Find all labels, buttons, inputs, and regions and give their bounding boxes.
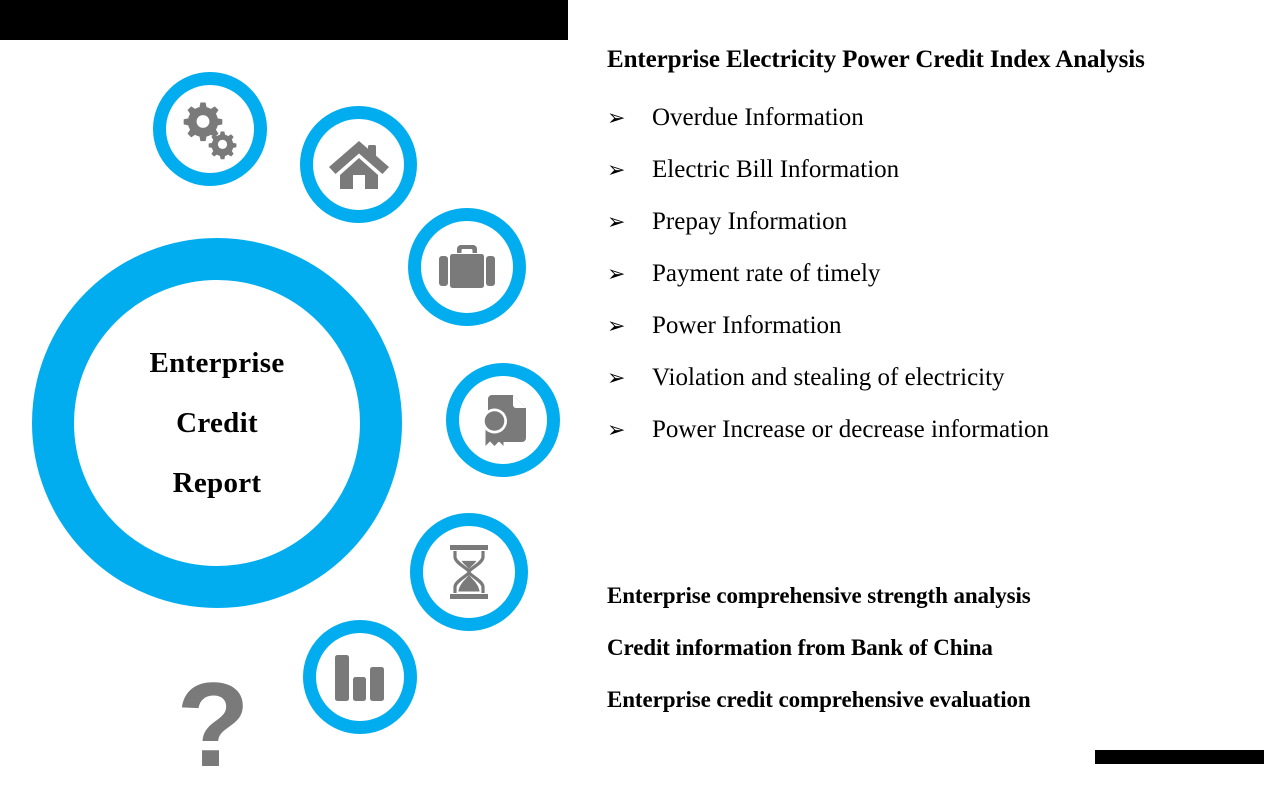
bullet-arrow-icon: ➢ bbox=[604, 301, 652, 353]
gears-icon bbox=[179, 98, 241, 160]
credit-report-diagram: Enterprise Credit Report bbox=[0, 40, 568, 764]
house-icon bbox=[328, 137, 390, 193]
list-item-label: Power Increase or decrease information bbox=[652, 404, 1049, 456]
summary-lines: Enterprise comprehensive strength analys… bbox=[607, 570, 1264, 726]
analysis-bullet-list: ➢ Overdue Information ➢ Electric Bill In… bbox=[604, 92, 1264, 456]
ring-label-line-2: Credit bbox=[176, 393, 258, 453]
list-item: ➢ Violation and stealing of electricity bbox=[604, 352, 1264, 404]
page-title: Enterprise Electricity Power Credit Inde… bbox=[607, 46, 1145, 74]
bullet-arrow-icon: ➢ bbox=[604, 197, 652, 249]
list-item: ➢ Power Increase or decrease information bbox=[604, 404, 1264, 456]
list-item-label: Payment rate of timely bbox=[652, 248, 880, 300]
summary-line: Enterprise credit comprehensive evaluati… bbox=[607, 674, 1264, 726]
top-black-bar bbox=[0, 0, 568, 40]
bullet-arrow-icon: ➢ bbox=[604, 353, 652, 405]
bar-chart-icon-circle bbox=[303, 620, 417, 734]
list-item: ➢ Electric Bill Information bbox=[604, 144, 1264, 196]
summary-line: Credit information from Bank of China bbox=[607, 622, 1264, 674]
summary-line: Enterprise comprehensive strength analys… bbox=[607, 570, 1264, 622]
certificate-icon-circle bbox=[446, 363, 560, 477]
list-item-label: Electric Bill Information bbox=[652, 144, 899, 196]
enterprise-credit-report-label: Enterprise Credit Report bbox=[32, 238, 402, 608]
briefcase-icon-circle bbox=[408, 208, 526, 326]
bar-chart-icon bbox=[331, 651, 389, 703]
hourglass-icon bbox=[442, 542, 496, 602]
list-item-label: Prepay Information bbox=[652, 196, 847, 248]
ring-label-line-1: Enterprise bbox=[149, 333, 284, 393]
list-item: ➢ Prepay Information bbox=[604, 196, 1264, 248]
list-item-label: Power Information bbox=[652, 300, 842, 352]
list-item-label: Overdue Information bbox=[652, 92, 864, 144]
list-item: ➢ Overdue Information bbox=[604, 92, 1264, 144]
list-item: ➢ Payment rate of timely bbox=[604, 248, 1264, 300]
list-item: ➢ Power Information bbox=[604, 300, 1264, 352]
briefcase-icon bbox=[436, 240, 498, 294]
ring-label-line-3: Report bbox=[173, 453, 262, 513]
bullet-arrow-icon: ➢ bbox=[604, 249, 652, 301]
analysis-text-panel: Enterprise Electricity Power Credit Inde… bbox=[604, 0, 1264, 764]
bullet-arrow-icon: ➢ bbox=[604, 93, 652, 145]
bullet-arrow-icon: ➢ bbox=[604, 405, 652, 457]
gears-icon-circle bbox=[153, 72, 267, 186]
list-item-label: Violation and stealing of electricity bbox=[652, 352, 1005, 404]
certificate-icon bbox=[474, 391, 532, 449]
hourglass-icon-circle bbox=[410, 513, 528, 631]
bullet-arrow-icon: ➢ bbox=[604, 145, 652, 197]
house-icon-circle bbox=[300, 106, 417, 223]
